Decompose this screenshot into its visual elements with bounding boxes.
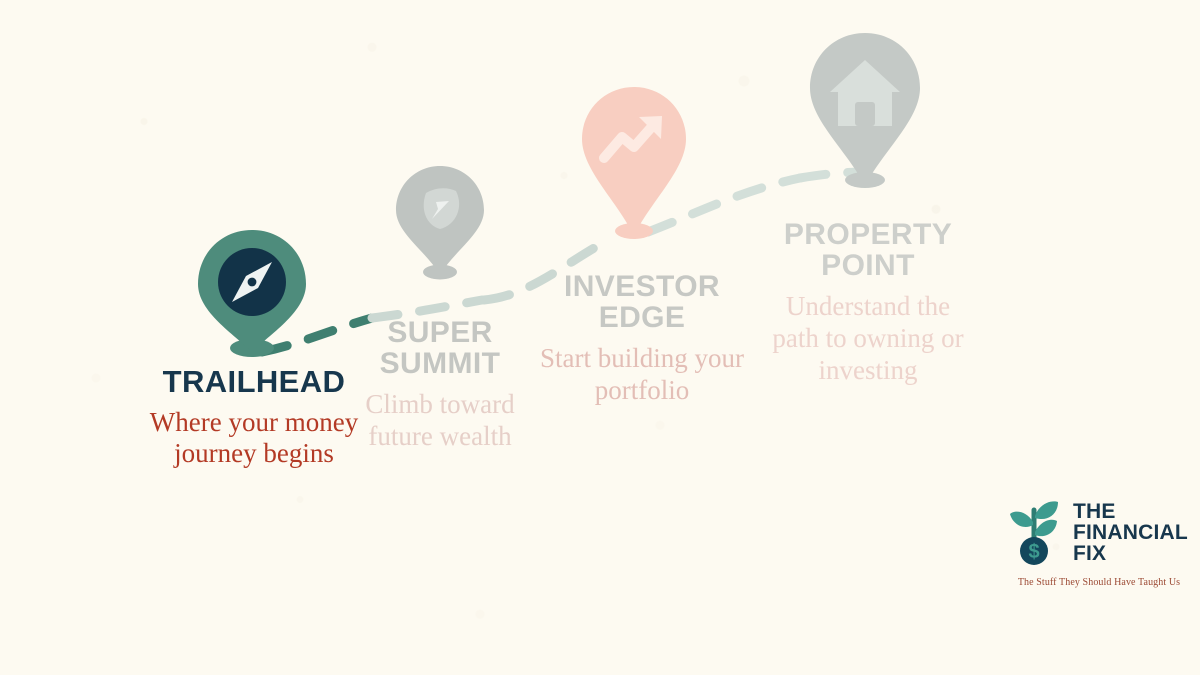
stop-super-summit-text: SUPER SUMMIT Climb toward future wealth xyxy=(360,318,520,453)
pin-body xyxy=(582,87,686,236)
sprout-leaf-lower-icon xyxy=(1035,520,1057,536)
stop-title-super-summit: SUPER SUMMIT xyxy=(360,318,520,379)
stop-subtitle-super-summit: Climb toward future wealth xyxy=(360,389,520,453)
stop-subtitle-property-point: Understand the path to owning or investi… xyxy=(762,291,974,387)
stop-subtitle-trailhead: Where your money journey begins xyxy=(118,407,390,471)
journey-infographic: TRAILHEAD Where your money journey begin… xyxy=(0,0,1200,675)
sprout-coin-icon: $ xyxy=(1006,496,1064,571)
stop-property-point-text: PROPERTY POINT Understand the path to ow… xyxy=(762,220,974,387)
logo-line-2: FINANCIAL xyxy=(1073,523,1188,544)
house-door-icon xyxy=(855,102,875,126)
brand-logo[interactable]: $ THE FINANCIAL FIX The Stuff They Shoul… xyxy=(1006,496,1192,588)
stop-investor-edge-text: INVESTOR EDGE Start building your portfo… xyxy=(536,272,748,407)
stop-title-property-point: PROPERTY POINT xyxy=(762,220,974,281)
pin-property-point[interactable] xyxy=(806,30,924,192)
stop-trailhead-text: TRAILHEAD Where your money journey begin… xyxy=(118,366,390,470)
pin-trailhead[interactable] xyxy=(192,226,312,358)
compass-pivot-icon xyxy=(248,278,257,287)
stop-title-trailhead: TRAILHEAD xyxy=(118,366,390,398)
pin-investor-edge[interactable] xyxy=(578,84,690,242)
logo-line-3: FIX xyxy=(1073,544,1188,565)
dollar-sign-icon: $ xyxy=(1028,541,1039,563)
logo-tagline: The Stuff They Should Have Taught Us xyxy=(1006,577,1192,588)
stop-subtitle-investor-edge: Start building your portfolio xyxy=(536,343,748,407)
sprout-leaf-left-icon xyxy=(1010,512,1033,527)
stop-title-investor-edge: INVESTOR EDGE xyxy=(536,272,748,333)
pin-super-summit[interactable] xyxy=(392,163,488,281)
logo-wordmark: THE FINANCIAL FIX xyxy=(1073,502,1188,564)
sprout-leaf-right-icon xyxy=(1035,501,1058,519)
logo-line-1: THE xyxy=(1073,502,1188,523)
